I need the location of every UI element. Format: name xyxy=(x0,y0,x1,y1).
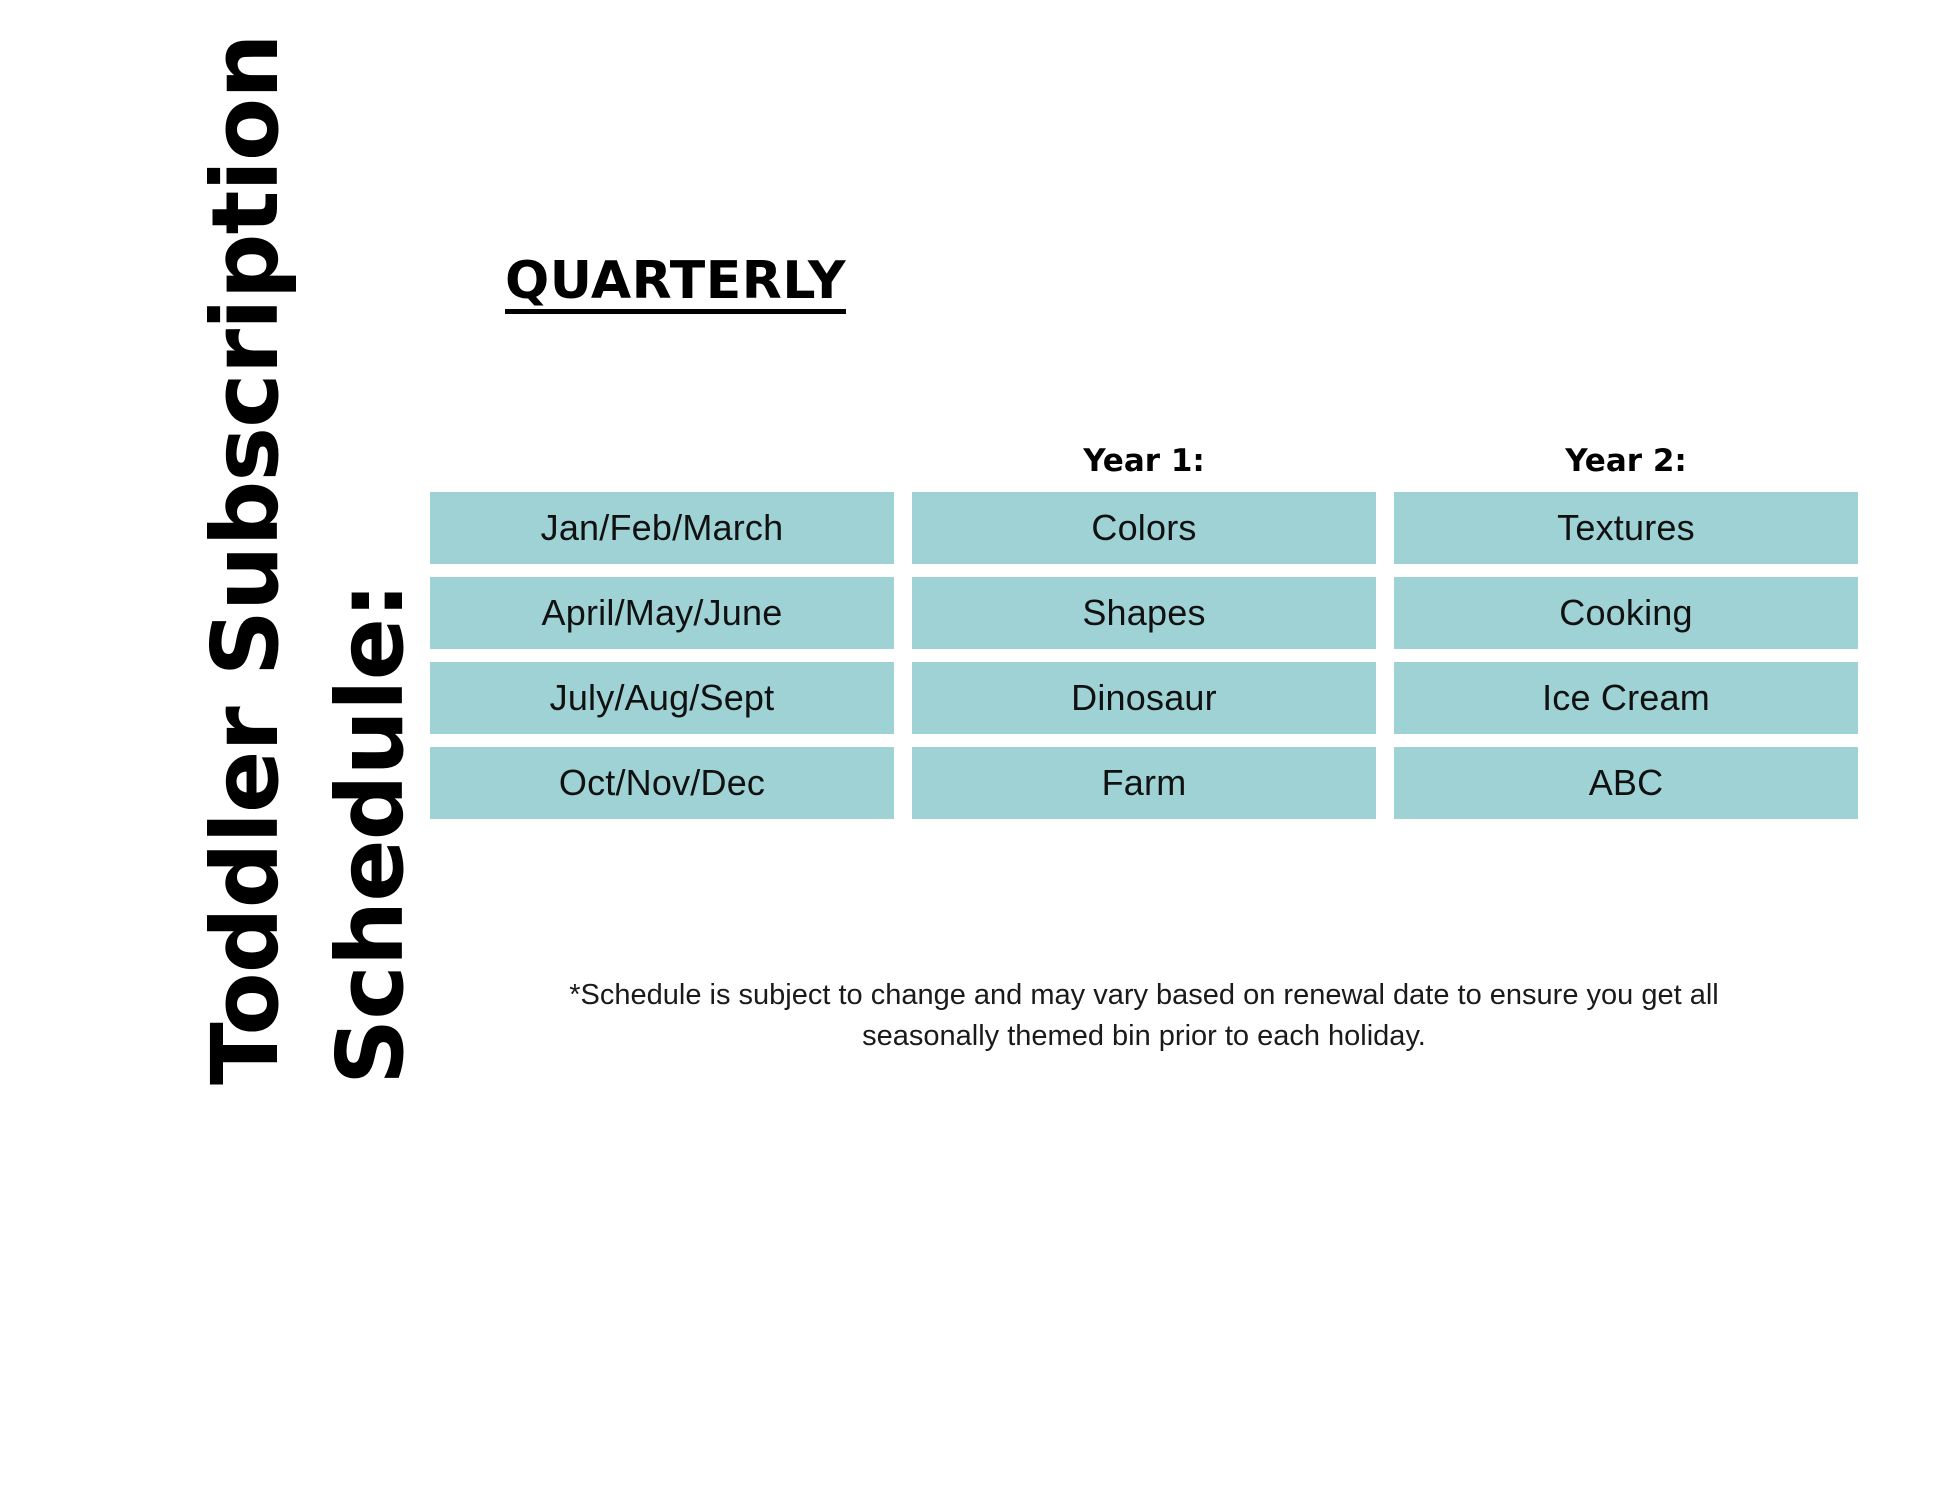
cell-year1: Farm xyxy=(912,747,1376,819)
cell-period: Oct/Nov/Dec xyxy=(430,747,894,819)
cell-period: April/May/June xyxy=(430,577,894,649)
table-row: July/Aug/Sept Dinosaur Ice Cream xyxy=(430,662,1858,734)
title-line-2: Schedule: xyxy=(325,583,417,1085)
table-row: April/May/June Shapes Cooking xyxy=(430,577,1858,649)
cell-year2: Cooking xyxy=(1394,577,1858,649)
table-row: Jan/Feb/March Colors Textures xyxy=(430,492,1858,564)
cell-year2: Textures xyxy=(1394,492,1858,564)
main-content: QUARTERLY Year 1: Year 2: Jan/Feb/March … xyxy=(430,0,1870,1503)
column-header-year-1: Year 1: xyxy=(912,440,1376,482)
cell-period: July/Aug/Sept xyxy=(430,662,894,734)
cell-year1: Colors xyxy=(912,492,1376,564)
footnote-text: *Schedule is subject to change and may v… xyxy=(430,975,1858,1057)
cell-year1: Shapes xyxy=(912,577,1376,649)
schedule-table: Year 1: Year 2: Jan/Feb/March Colors Tex… xyxy=(430,440,1858,832)
vertical-title-block: Toddler Subscription Schedule: xyxy=(0,0,400,1180)
table-header-row: Year 1: Year 2: xyxy=(430,440,1858,482)
cell-year2: ABC xyxy=(1394,747,1858,819)
cell-period: Jan/Feb/March xyxy=(430,492,894,564)
cell-year1: Dinosaur xyxy=(912,662,1376,734)
table-row: Oct/Nov/Dec Farm ABC xyxy=(430,747,1858,819)
column-header-year-2: Year 2: xyxy=(1394,440,1858,482)
quarterly-heading: QUARTERLY xyxy=(505,255,846,314)
title-line-1: Toddler Subscription xyxy=(200,34,292,1085)
cell-year2: Ice Cream xyxy=(1394,662,1858,734)
